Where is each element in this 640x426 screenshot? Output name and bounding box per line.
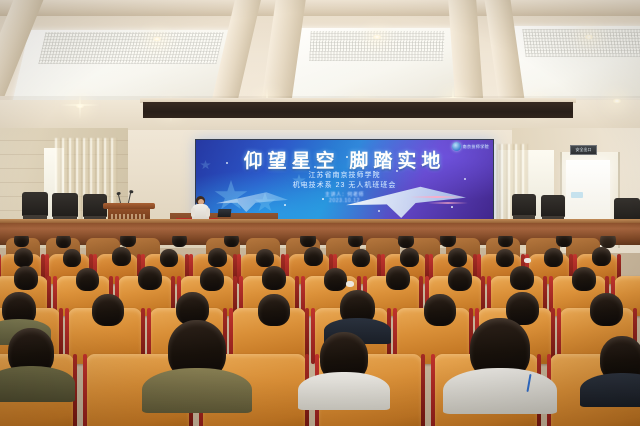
ceiling-beam-horizontal-top [0, 0, 640, 16]
audience-member [572, 267, 596, 291]
audience-seating [0, 236, 640, 426]
audience-member [424, 294, 456, 326]
audience-member [14, 248, 33, 267]
audience-member [138, 266, 162, 290]
audience-member [262, 266, 286, 290]
audience-member [544, 248, 563, 267]
audience-member [590, 293, 623, 326]
audience-member-foreground [470, 318, 530, 380]
audience-member [2, 292, 36, 326]
audience-member-foreground [8, 328, 54, 376]
ceiling-downlight [75, 103, 85, 109]
audience-member [496, 249, 514, 267]
side-chair [22, 192, 48, 216]
audience-member [76, 268, 99, 291]
ceiling-light-panel-1 [38, 32, 223, 64]
audience-member [63, 249, 81, 267]
audience-member [592, 247, 611, 266]
audience-member [386, 266, 410, 290]
audience-member [300, 236, 316, 247]
screen-valance [143, 102, 573, 118]
audience-member [556, 236, 572, 247]
audience-member [120, 236, 136, 247]
screen-logo-text: 南京技师学院 [463, 144, 489, 150]
screen-meta-2: 2023.10.12 [196, 198, 493, 204]
audience-member [92, 294, 124, 326]
presenter [192, 196, 209, 218]
audience-member [172, 236, 187, 247]
exit-sign: 安全出口 [570, 145, 597, 155]
audience-member [208, 248, 227, 267]
audience-member [224, 236, 239, 247]
audience-member [348, 236, 363, 247]
audience-member-foreground [320, 332, 368, 382]
screen-subtitle-2: 机电技术系 23 无人机班班会 [196, 180, 493, 190]
audience-member [258, 294, 290, 326]
auditorium-photo: 安全出口 仰望星空 脚踏实地 江苏省南京技师学院 机电技术系 23 [0, 0, 640, 426]
audience-member [352, 249, 370, 267]
ceiling-downlight [152, 36, 162, 42]
ceiling-downlight [612, 98, 622, 104]
screen-title: 仰望星空 脚踏实地 [196, 146, 493, 173]
audience-member [56, 236, 71, 248]
audience-member [440, 236, 456, 247]
audience-member [304, 247, 323, 266]
ceiling-downlight [372, 34, 382, 40]
screen-subtitle-1: 江苏省南京技师学院 [196, 170, 493, 180]
audience-member [340, 290, 375, 325]
face-mask [346, 281, 354, 287]
audience-member-foreground [168, 320, 226, 380]
audience-member [112, 247, 131, 266]
audience-member [448, 267, 472, 291]
audience-member [256, 249, 274, 267]
side-chair [512, 194, 536, 216]
exit-sign-label: 安全出口 [576, 148, 592, 152]
side-chair [52, 193, 78, 217]
ceiling-downlight [584, 34, 594, 40]
face-mask [524, 258, 531, 263]
audience-member [398, 236, 414, 248]
audience-member [324, 268, 347, 291]
screen-logo: 南京技师学院 [452, 142, 489, 151]
audience-member-foreground [600, 336, 640, 382]
screen-meta-1: 主讲人：何老师 [196, 191, 493, 198]
school-emblem-icon [452, 142, 461, 151]
audience-member [448, 248, 467, 267]
audience-member [14, 236, 29, 247]
audience-member [498, 236, 513, 247]
ceiling-light-panel-3 [522, 29, 640, 57]
laptop [218, 209, 232, 217]
audience-member [160, 249, 178, 267]
door-placard [571, 192, 583, 198]
side-chair [541, 195, 565, 217]
audience-member [510, 266, 534, 290]
audience-member [400, 248, 419, 267]
audience-member [14, 266, 38, 290]
audience-member [200, 267, 224, 291]
